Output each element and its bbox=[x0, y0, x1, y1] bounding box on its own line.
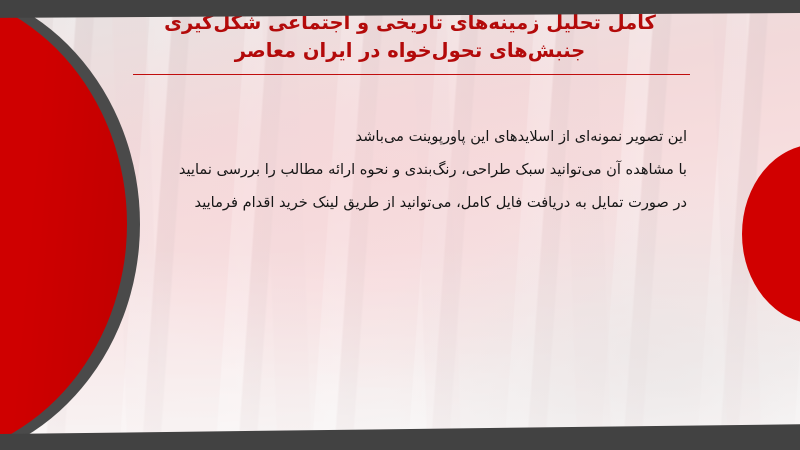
presentation-slide: کامل تحلیل زمینه‌های تاریخی و اجتماعی شک… bbox=[0, 0, 800, 450]
red-horizontal-rule bbox=[133, 74, 690, 75]
slide-body: این تصویر نمونه‌ای از اسلایدهای این پاور… bbox=[107, 120, 687, 219]
slide-title: کامل تحلیل زمینه‌های تاریخی و اجتماعی شک… bbox=[120, 9, 700, 65]
body-line-2: با مشاهده آن می‌توانید سبک طراحی، رنگ‌بن… bbox=[107, 153, 687, 186]
title-line-2: جنبش‌های تحول‌خواه در ایران معاصر bbox=[120, 37, 700, 65]
slide-content: کامل تحلیل زمینه‌های تاریخی و اجتماعی شک… bbox=[0, 0, 800, 450]
body-line-3: در صورت تمایل به دریافت فایل کامل، می‌تو… bbox=[107, 186, 687, 219]
body-line-1: این تصویر نمونه‌ای از اسلایدهای این پاور… bbox=[107, 120, 687, 153]
